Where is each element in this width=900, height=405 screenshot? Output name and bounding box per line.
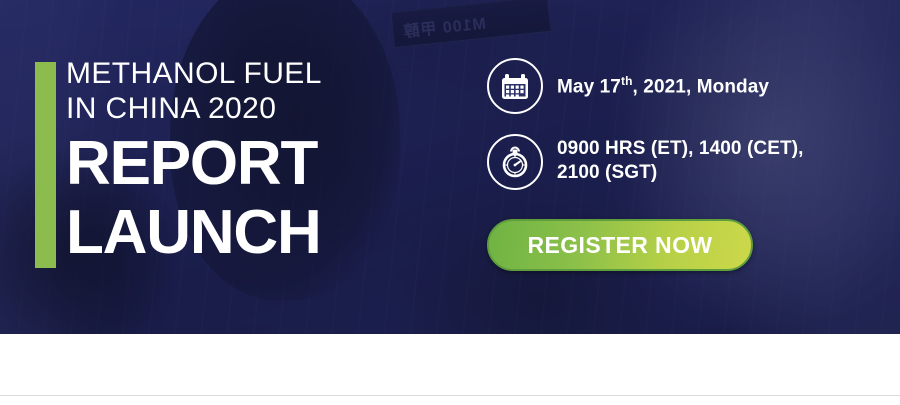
register-now-label: REGISTER NOW [528,232,713,259]
event-details: May 17th, 2021, Monday [487,58,887,210]
event-time-row: 0900 HRS (ET), 1400 (CET), 2100 (SGT) [487,134,887,190]
event-time-text: 0900 HRS (ET), 1400 (CET), 2100 (SGT) [557,134,804,185]
headline-line-2: IN CHINA 2020 [66,91,486,126]
event-date-text: May 17th, 2021, Monday [557,58,769,99]
headline-launch: LAUNCH [66,201,486,264]
event-time-line-2: 2100 (SGT) [557,161,804,185]
event-date-prefix: May 17 [557,76,621,97]
event-time-line-1: 0900 HRS (ET), 1400 (CET), [557,137,804,161]
event-date-ordinal: th [621,74,633,88]
event-date-row: May 17th, 2021, Monday [487,58,887,114]
headline-block: METHANOL FUEL IN CHINA 2020 REPORT LAUNC… [66,56,486,264]
stopwatch-icon [487,134,543,190]
hero-section: M100 甲醇 METHANOL FUEL IN CHINA 2020 REPO… [0,0,900,334]
green-accent-bar [35,62,56,268]
webinar-banner: M100 甲醇 METHANOL FUEL IN CHINA 2020 REPO… [0,0,900,405]
headline-line-1: METHANOL FUEL [66,56,486,91]
calendar-icon [487,58,543,114]
register-now-button[interactable]: REGISTER NOW [487,219,753,271]
footer-section: Organizer: METHANOL INSTITUTE Report Par… [0,334,900,405]
event-date-suffix: , 2021, Monday [633,76,770,97]
headline-report: REPORT [66,132,486,195]
